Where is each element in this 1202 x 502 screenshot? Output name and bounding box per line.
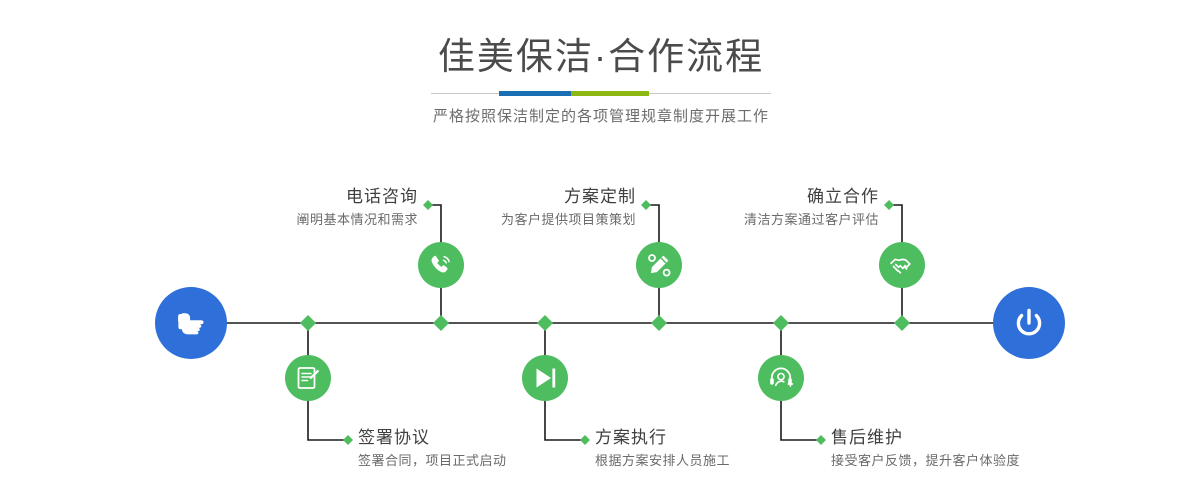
customer-service-icon xyxy=(767,364,795,392)
axis-diamond-6 xyxy=(894,315,910,331)
step-label-2: 签署协议 签署合同，项目正式启动 xyxy=(358,427,507,471)
play-forward-icon xyxy=(531,364,559,392)
label-diamond-step-4 xyxy=(580,435,590,445)
step-label-4: 方案执行 根据方案安排人员施工 xyxy=(595,427,730,471)
step-label-6-title: 售后维护 xyxy=(831,427,1020,449)
step-label-5: 确立合作 清洁方案通过客户评估 xyxy=(624,186,879,230)
axis-diamond-1 xyxy=(300,315,316,331)
label-diamond-step-6 xyxy=(816,435,826,445)
flow-end-endpoint[interactable] xyxy=(993,287,1065,359)
step-label-6: 售后维护 接受客户反馈，提升客户体验度 xyxy=(831,427,1020,471)
step-label-5-title: 确立合作 xyxy=(624,186,879,208)
step-label-2-desc: 签署合同，项目正式启动 xyxy=(358,451,507,471)
label-diamond-step-2 xyxy=(343,435,353,445)
power-icon xyxy=(1009,303,1049,343)
step-label-1-desc: 阐明基本情况和需求 xyxy=(163,210,418,230)
step-node-6[interactable] xyxy=(758,355,804,401)
step-node-1[interactable] xyxy=(418,242,464,288)
axis-diamond-5 xyxy=(773,315,789,331)
step-label-2-title: 签署协议 xyxy=(358,427,507,449)
pencil-design-icon xyxy=(645,251,673,279)
phone-call-icon xyxy=(427,251,455,279)
axis-diamond-3 xyxy=(537,315,553,331)
step-node-5[interactable] xyxy=(879,242,925,288)
step-label-4-title: 方案执行 xyxy=(595,427,730,449)
step-label-6-desc: 接受客户反馈，提升客户体验度 xyxy=(831,451,1020,471)
step-label-1: 电话咨询 阐明基本情况和需求 xyxy=(163,186,418,230)
label-diamond-step-5 xyxy=(884,200,894,210)
axis-diamond-2 xyxy=(433,315,449,331)
step-node-2[interactable] xyxy=(285,355,331,401)
step-node-4[interactable] xyxy=(522,355,568,401)
flow-start-endpoint[interactable] xyxy=(155,287,227,359)
process-flow-diagram: 电话咨询 阐明基本情况和需求 方案定制 为客户提供项目策策划 确立合作 清洁方案… xyxy=(0,0,1202,502)
document-edit-icon xyxy=(294,364,322,392)
hand-pointing-icon xyxy=(171,303,211,343)
step-node-3[interactable] xyxy=(636,242,682,288)
handshake-icon xyxy=(888,251,916,279)
step-label-3: 方案定制 为客户提供项目策策划 xyxy=(381,186,636,230)
step-label-4-desc: 根据方案安排人员施工 xyxy=(595,451,730,471)
step-label-3-title: 方案定制 xyxy=(381,186,636,208)
axis-diamond-4 xyxy=(651,315,667,331)
step-label-5-desc: 清洁方案通过客户评估 xyxy=(624,210,879,230)
step-label-1-title: 电话咨询 xyxy=(163,186,418,208)
step-label-3-desc: 为客户提供项目策策划 xyxy=(381,210,636,230)
